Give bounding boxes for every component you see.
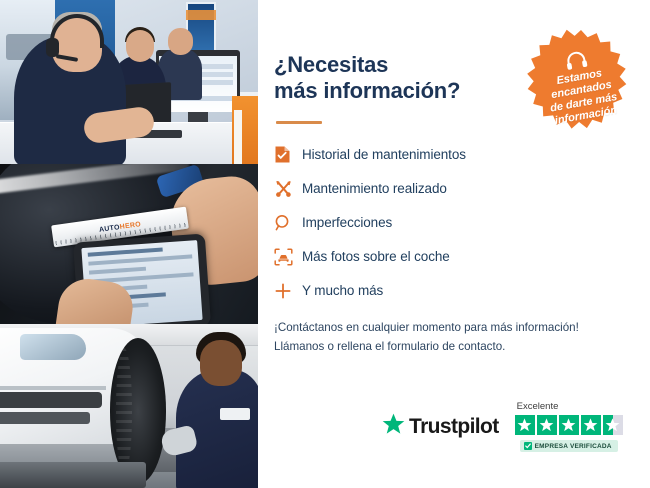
car-scan-frame-icon (274, 248, 302, 266)
contact-paragraph: ¡Contáctanos en cualquier momento para m… (274, 318, 622, 356)
badge-line-4: información (554, 104, 618, 127)
star-1 (515, 415, 535, 435)
feature-label: Más fotos sobre el coche (302, 249, 450, 264)
feature-list: Historial de mantenimientos M (274, 144, 630, 302)
vehicle-inspection-photo: AUTOHERO (0, 164, 258, 324)
feature-label: Imperfecciones (302, 215, 392, 230)
feature-item-imperfecciones: Imperfecciones (274, 212, 630, 234)
badge-line-1: Estamos (556, 67, 603, 87)
contact-paragraph-line-2: Llámanos o rellena el formulario de cont… (274, 340, 505, 353)
star-rating (515, 415, 623, 435)
feature-item-mucho-mas: Y mucho más (274, 280, 630, 302)
contact-paragraph-line-1: ¡Contáctanos en cualquier momento para m… (274, 321, 579, 334)
magnifier-icon (274, 214, 302, 232)
page-title-line-2: más información? (274, 78, 460, 103)
mechanic-wheel-photo (0, 324, 258, 488)
star-3 (559, 415, 579, 435)
trustpilot-rating: Excelente EMPRESA VERIFICADA (515, 401, 623, 452)
photo-column: AUTOHERO (0, 0, 258, 488)
trustpilot-logo[interactable]: Trustpilot (382, 413, 499, 440)
star-5-half (603, 415, 623, 435)
badge-line-3: de darte más (549, 91, 618, 115)
ruler-brand-hero: HERO (119, 221, 141, 231)
call-center-agents-photo (0, 0, 258, 164)
callout-badge: Estamos encantados de darte más informac… (522, 28, 640, 146)
feature-item-historial: Historial de mantenimientos (274, 144, 630, 166)
trustpilot-widget[interactable]: Trustpilot Excelente EMPRESA VERIFICADA (382, 401, 623, 452)
feature-item-mantenimiento: Mantenimiento realizado (274, 178, 630, 200)
star-2 (537, 415, 557, 435)
rating-label: Excelente (517, 401, 559, 412)
trustpilot-star-icon (382, 413, 405, 440)
trustpilot-wordmark: Trustpilot (409, 415, 499, 439)
verified-company-badge: EMPRESA VERIFICADA (520, 440, 618, 452)
feature-label: Historial de mantenimientos (302, 147, 466, 162)
feature-label: Y mucho más (302, 283, 383, 298)
checklist-document-icon (274, 145, 302, 164)
feature-label: Mantenimiento realizado (302, 181, 447, 196)
headset-icon (564, 50, 589, 72)
plus-icon (274, 282, 302, 300)
badge-starburst-shape (522, 28, 640, 146)
check-badge-icon (524, 442, 532, 450)
badge-line-2: encantados (550, 79, 612, 101)
page-title-line-1: ¿Necesitas (274, 52, 388, 77)
ruler-brand-auto: AUTO (99, 224, 121, 234)
tools-wrench-screwdriver-icon (274, 179, 302, 198)
content-panel: ¿Necesitas más información? Historial de… (258, 0, 650, 488)
promo-card: AUTOHERO (0, 0, 650, 488)
page-title: ¿Necesitas más información? (274, 52, 504, 105)
verified-label: EMPRESA VERIFICADA (535, 443, 612, 450)
star-4 (581, 415, 601, 435)
title-underline-accent (276, 121, 322, 124)
feature-item-mas-fotos: Más fotos sobre el coche (274, 246, 630, 268)
